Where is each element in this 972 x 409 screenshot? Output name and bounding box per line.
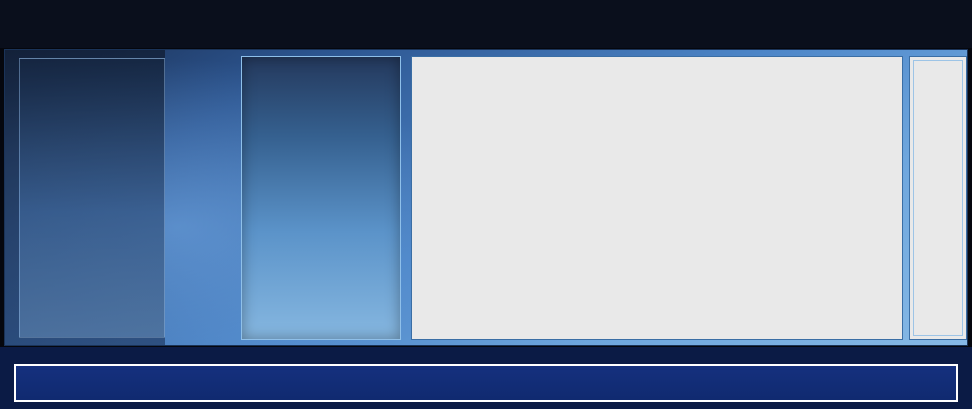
edge-gateway-panel: [241, 56, 401, 340]
yg-aiot-title: [414, 59, 900, 65]
right-sidebar-items: [913, 60, 963, 336]
header-row-scenarios: [0, 26, 972, 47]
diagram-root: [0, 0, 972, 409]
cloud-platform-bar: [14, 364, 958, 402]
yg-aiot-panel: [411, 56, 903, 340]
header-row-domains: [0, 2, 972, 24]
edge-gateway-title: [242, 57, 400, 65]
right-sidebar: [909, 56, 967, 340]
bottom-platform-band: [0, 347, 972, 409]
top-header: [0, 0, 972, 48]
protocol-column: [165, 58, 237, 338]
architecture-stage: [4, 49, 968, 346]
device-column: [19, 58, 165, 338]
